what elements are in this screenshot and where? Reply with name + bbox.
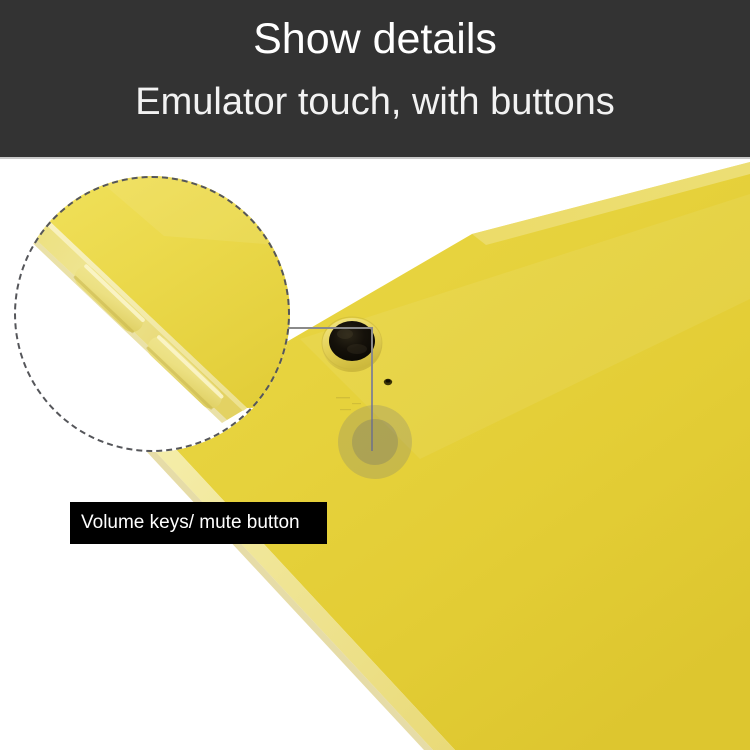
header-banner: Show details Emulator touch, with button… — [0, 0, 750, 157]
screenshot-root: Show details Emulator touch, with button… — [0, 0, 750, 750]
page-title: Show details — [0, 14, 750, 64]
callout-photo — [14, 176, 290, 452]
callout-label: Volume keys/ mute button — [70, 502, 327, 544]
leader-line-horizontal — [288, 327, 373, 329]
product-photo: Volume keys/ mute button — [0, 159, 750, 750]
page-subtitle: Emulator touch, with buttons — [0, 79, 750, 125]
magnifier-callout — [14, 176, 290, 452]
callout-label-text: Volume keys/ mute button — [70, 502, 300, 544]
touch-indicator-inner-dot[interactable] — [352, 419, 398, 465]
